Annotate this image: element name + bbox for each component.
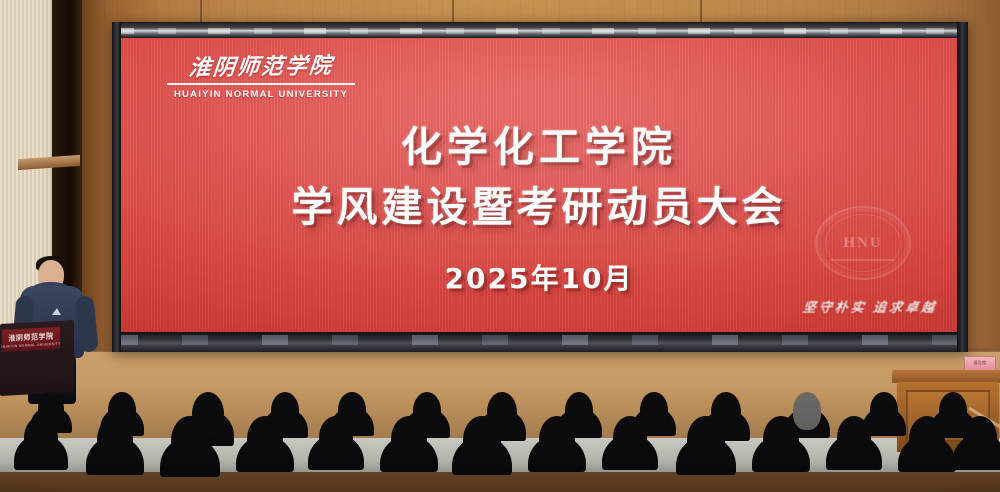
audience-member-head <box>687 416 724 464</box>
screen-bezel-top <box>112 22 968 38</box>
audience-member-head <box>24 416 57 460</box>
lectern-name-card: 报告席 <box>964 356 996 371</box>
audience-member-head <box>837 416 872 460</box>
audience-member-head <box>319 416 354 460</box>
audience-member-head <box>97 416 133 464</box>
audience-member-head <box>463 416 500 464</box>
slide-title-line1: 化学化工学院 <box>121 124 957 172</box>
university-seal-watermark: HNU <box>815 206 911 280</box>
audience-member-head <box>909 416 945 462</box>
audience-member-head <box>171 416 208 466</box>
university-logo-cn: 淮阴师范学院 <box>160 54 363 79</box>
audience-member-head <box>391 416 427 462</box>
screen-bezel-right <box>957 22 968 352</box>
audience-member-head <box>640 392 667 428</box>
university-motto-calligraphy: 坚守朴实 追求卓越 <box>801 297 938 316</box>
audience-member-head <box>247 416 283 462</box>
audience-member-head <box>763 416 799 462</box>
audience-member-head <box>963 416 998 460</box>
audience-member-head <box>870 392 897 428</box>
seal-bar <box>831 259 895 261</box>
audience-member-head <box>793 392 822 430</box>
podium-nameplate: 淮阴师范学院 HUAIYIN NORMAL UNIVERSITY <box>2 327 60 352</box>
seal-text: HNU <box>843 235 882 252</box>
screen-bezel-bottom <box>112 332 968 352</box>
led-screen-frame: 淮阴师范学院 HUAIYIN NORMAL UNIVERSITY 化学化工学院 … <box>112 22 968 352</box>
university-logo: 淮阴师范学院 HUAIYIN NORMAL UNIVERSITY <box>161 56 361 100</box>
screen-bezel-left <box>112 22 121 352</box>
audience-member-head <box>939 392 968 430</box>
speaker-podium: 淮阴师范学院 HUAIYIN NORMAL UNIVERSITY <box>0 320 74 396</box>
led-screen: 淮阴师范学院 HUAIYIN NORMAL UNIVERSITY 化学化工学院 … <box>121 38 957 332</box>
university-logo-en: HUAIYIN NORMAL UNIVERSITY <box>161 89 361 100</box>
auditorium-scene: 淮阴师范学院 HUAIYIN NORMAL UNIVERSITY 化学化工学院 … <box>0 0 1000 492</box>
logo-divider <box>167 83 355 85</box>
audience-member-head <box>613 416 648 460</box>
audience-area <box>0 386 1000 492</box>
audience-member-head <box>539 416 575 462</box>
lectern-name-card-text: 报告席 <box>965 357 995 368</box>
